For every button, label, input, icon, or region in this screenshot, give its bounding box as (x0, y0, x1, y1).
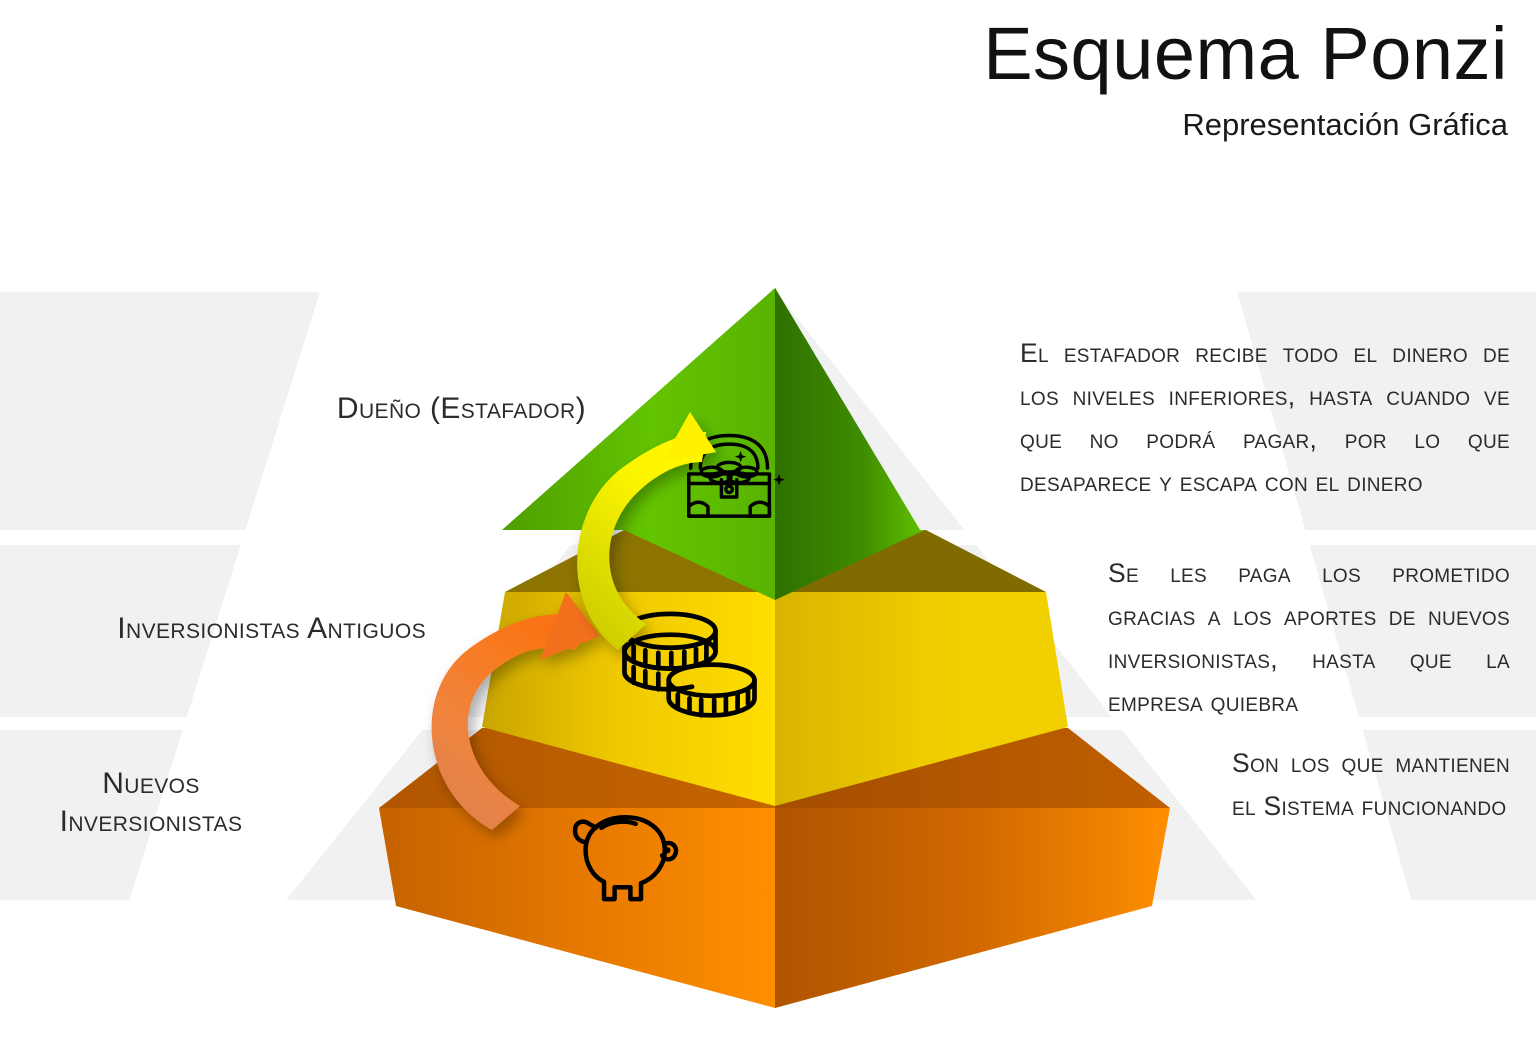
level-description-bottom: Son los que mantienen el Sistema funcion… (1232, 742, 1510, 828)
level-label-top: Dueño (Estafador) (26, 390, 586, 428)
level-label-middle: Inversionistas Antiguos (0, 610, 426, 648)
page-title: Esquema Ponzi (983, 14, 1508, 94)
level-label-bottom-line1: Nuevos (11, 765, 291, 803)
page-subtitle: Representación Gráfica (983, 106, 1508, 143)
level-description-middle: Se les paga los prometido gracias a los … (1108, 552, 1510, 724)
header: Esquema Ponzi Representación Gráfica (983, 14, 1508, 143)
level-description-top: El estafador recibe todo el dinero de lo… (1020, 332, 1510, 504)
level-label-bottom-line2: Inversionistas (11, 803, 291, 841)
level-label-bottom: Nuevos Inversionistas (11, 765, 291, 842)
slide-canvas: Esquema Ponzi Representación Gráfica Due… (0, 0, 1536, 1051)
